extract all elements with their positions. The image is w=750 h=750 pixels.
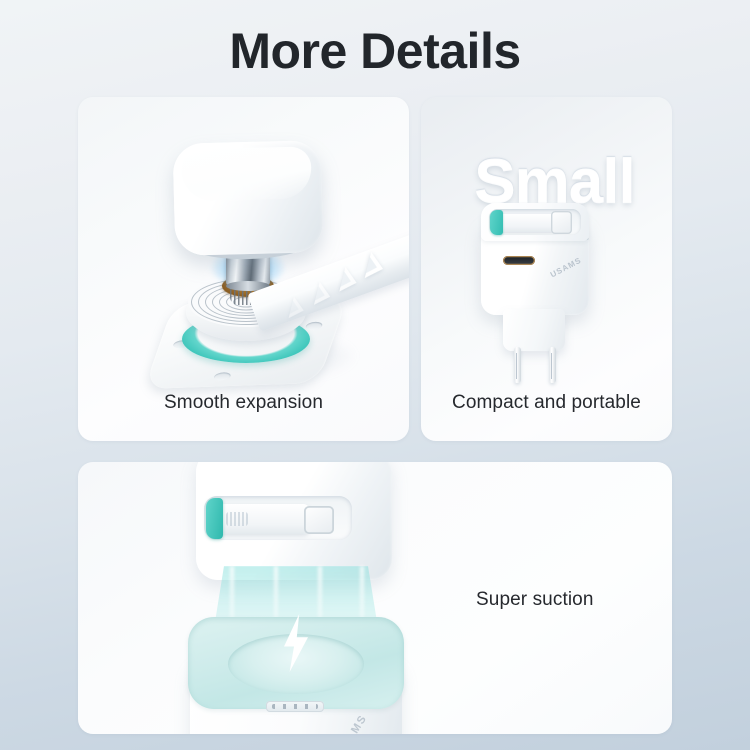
panel-compact-portable: Small USAMS Compact and portable xyxy=(421,97,672,441)
panel-super-suction: USAMS Super suction xyxy=(78,462,672,734)
marketing-page: More Details xyxy=(0,0,750,750)
cable-connector-tip xyxy=(551,211,572,234)
plate-hole xyxy=(305,322,324,331)
panel-caption-compact-portable: Compact and portable xyxy=(421,392,672,414)
teal-cable-clip xyxy=(490,210,503,235)
pogo-contacts xyxy=(266,701,324,712)
plate-hole xyxy=(213,372,232,381)
page-title: More Details xyxy=(0,16,750,86)
charger-head xyxy=(173,140,324,256)
panel-smooth-expansion: Smooth expansion xyxy=(78,97,409,441)
panel-caption-super-suction: Super suction xyxy=(476,589,593,611)
compact-portable-illustration: Small USAMS xyxy=(421,97,672,441)
plug-shoulder xyxy=(503,309,565,351)
plug-prong-left xyxy=(514,347,521,383)
plug-prong-right xyxy=(549,347,556,383)
teal-cable-clip xyxy=(206,498,223,539)
integrated-cable xyxy=(218,504,310,534)
usb-c-port xyxy=(503,256,535,265)
cable-connector-tip xyxy=(304,506,334,534)
smooth-expansion-illustration xyxy=(78,97,409,441)
panel-caption-smooth-expansion: Smooth expansion xyxy=(78,392,409,414)
